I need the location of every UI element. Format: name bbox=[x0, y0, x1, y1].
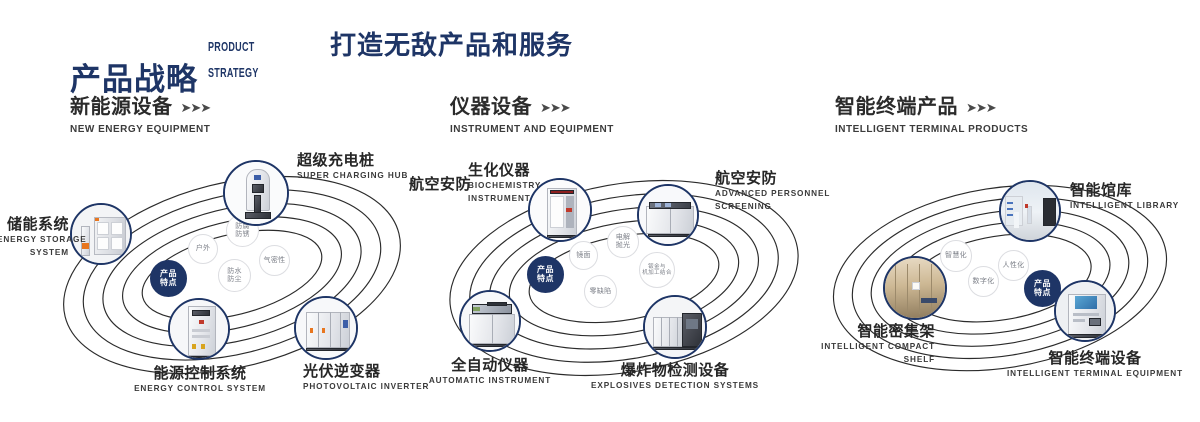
feature-line2-0-1: 防锈 bbox=[235, 231, 250, 239]
page-title-english-line1: PRODUCT bbox=[208, 41, 259, 54]
chevron-triple-right-icon-2: ➤➤➤ bbox=[966, 100, 996, 116]
page-title-english-line2: STRATEGY bbox=[208, 67, 259, 80]
node-en2-1-2: SCREENING bbox=[715, 202, 830, 212]
node-label-biochemistry: 生化仪器 BIOCHEMISTRY INSTRUMENT bbox=[468, 162, 541, 204]
feature-line1-1-0: 镜面 bbox=[576, 252, 591, 260]
automatic-instrument-photo bbox=[461, 292, 519, 350]
feature-line2-0-2: 防尘 bbox=[227, 276, 242, 284]
charging-hub-photo bbox=[225, 162, 287, 224]
product-strategy-infographic: 产品战略 PRODUCT STRATEGY 打造无敌产品和服务 新能源设备➤➤➤… bbox=[0, 0, 1200, 422]
feature-bubble-electropolish: 电解 抛光 bbox=[607, 226, 639, 258]
feature-bubble-waterproof: 防水 防尘 bbox=[218, 259, 251, 292]
section-header-instrument: 仪器设备➤➤➤ INSTRUMENT AND EQUIPMENT bbox=[450, 96, 614, 135]
node-pv-inverter[interactable] bbox=[294, 296, 358, 360]
feature-line1-2-2: 人性化 bbox=[1003, 262, 1025, 270]
node-automatic-instrument[interactable] bbox=[459, 290, 521, 352]
node-cn-1-2: 航空安防 bbox=[715, 170, 830, 187]
center-bubble-line2-0: 特点 bbox=[160, 279, 177, 288]
feature-bubble-center-1: 产品 特点 bbox=[527, 256, 564, 293]
page-title: 产品战略 bbox=[70, 64, 198, 95]
node-en1-0-0: ENERGY STORAGE bbox=[0, 235, 69, 245]
feature-line2-1-1: 抛光 bbox=[616, 242, 631, 250]
compact-shelf-photo bbox=[885, 258, 945, 318]
energy-storage-photo bbox=[72, 205, 130, 263]
node-cn-1-4: 全自动仪器 bbox=[425, 357, 555, 374]
page-title-english: PRODUCT STRATEGY bbox=[208, 28, 259, 95]
section-header-new-energy: 新能源设备➤➤➤ NEW ENERGY EQUIPMENT bbox=[70, 96, 210, 135]
node-label-aviation-security-left: 航空安防 bbox=[409, 176, 471, 193]
feature-bubble-zerodefect: 零缺陷 bbox=[584, 275, 617, 308]
feature-line1-1-3: 零缺陷 bbox=[590, 288, 612, 296]
node-cn-2-2: 智能终端设备 bbox=[1005, 350, 1185, 367]
node-label-energy-storage: 储能系统 ENERGY STORAGE SYSTEM bbox=[0, 216, 69, 258]
feature-line1-2-1: 数字化 bbox=[973, 278, 995, 286]
section-title-en-2: INTELLIGENT TERMINAL PRODUCTS bbox=[835, 124, 1028, 135]
feature-line1-0-0: 户外 bbox=[196, 245, 211, 253]
node-charging-hub[interactable] bbox=[223, 160, 289, 226]
diagram-new-energy: 产品 特点 户外 防腐 防锈 防水 防尘 气密性 bbox=[45, 150, 420, 400]
node-en2-2-1: SHELF bbox=[815, 355, 935, 365]
diagram-instrument: 产品 特点 镜面 电解 抛光 钣金与 机加工结合 零缺陷 航空安防 bbox=[432, 150, 817, 400]
node-explosives-detection[interactable] bbox=[643, 295, 707, 359]
node-label-explosives-detection: 爆炸物检测设备 EXPLOSIVES DETECTION SYSTEMS bbox=[585, 362, 765, 392]
chevron-triple-right-icon-0: ➤➤➤ bbox=[181, 100, 211, 116]
chevron-triple-right-icon-1: ➤➤➤ bbox=[540, 100, 570, 116]
section-title-cn-1: 仪器设备 bbox=[450, 96, 532, 119]
section-title-en-1: INSTRUMENT AND EQUIPMENT bbox=[450, 124, 614, 135]
feature-line1-0-3: 气密性 bbox=[264, 257, 286, 265]
node-terminal-equipment[interactable] bbox=[1054, 280, 1116, 342]
energy-control-photo bbox=[170, 300, 228, 358]
feature-line1-2-0: 智慧化 bbox=[945, 252, 967, 260]
library-photo bbox=[1001, 182, 1059, 240]
node-cn-2-0: 智能馆库 bbox=[1070, 182, 1179, 199]
node-cn-1-3: 爆炸物检测设备 bbox=[585, 362, 765, 379]
feature-bubble-airtight: 气密性 bbox=[259, 245, 290, 276]
section-title-cn-2: 智能终端产品 bbox=[835, 96, 958, 119]
node-en1-2-0: INTELLIGENT LIBRARY bbox=[1070, 201, 1179, 211]
node-personnel-screening[interactable] bbox=[637, 184, 699, 246]
node-label-compact-shelf: 智能密集架 INTELLIGENT COMPACT SHELF bbox=[815, 323, 935, 365]
node-label-charging-hub: 超级充电桩 SUPER CHARGING HUB bbox=[297, 152, 408, 182]
node-en1-1-3: EXPLOSIVES DETECTION SYSTEMS bbox=[585, 381, 765, 391]
node-cn-1-0: 航空安防 bbox=[409, 176, 471, 193]
node-en1-1-4: AUTOMATIC INSTRUMENT bbox=[425, 376, 555, 386]
center-bubble-line2-1: 特点 bbox=[537, 275, 554, 284]
node-label-energy-control: 能源控制系统 ENERGY CONTROL SYSTEM bbox=[75, 365, 325, 395]
screening-photo bbox=[639, 186, 697, 244]
node-cn-0-1: 超级充电桩 bbox=[297, 152, 408, 169]
feature-bubble-mirror: 镜面 bbox=[569, 241, 598, 270]
feature-bubble-outdoor: 户外 bbox=[188, 234, 218, 264]
node-en2-0-0: SYSTEM bbox=[0, 248, 69, 258]
section-header-intelligent: 智能终端产品➤➤➤ INTELLIGENT TERMINAL PRODUCTS bbox=[835, 96, 1028, 135]
header-title-block: 产品战略 PRODUCT STRATEGY bbox=[70, 28, 278, 95]
section-title-en-0: NEW ENERGY EQUIPMENT bbox=[70, 124, 210, 135]
feature-line1-0-2: 防水 bbox=[227, 268, 242, 276]
node-intelligent-library[interactable] bbox=[999, 180, 1061, 242]
node-label-intelligent-library: 智能馆库 INTELLIGENT LIBRARY bbox=[1070, 182, 1179, 212]
node-cn-1-1: 生化仪器 bbox=[468, 162, 541, 179]
section-title-cn-0: 新能源设备 bbox=[70, 96, 173, 119]
node-en1-2-2: INTELLIGENT TERMINAL EQUIPMENT bbox=[1005, 369, 1185, 379]
feature-line2-1-2: 机加工结合 bbox=[642, 270, 671, 276]
feature-bubble-digital: 数字化 bbox=[968, 266, 999, 297]
node-label-automatic-instrument: 全自动仪器 AUTOMATIC INSTRUMENT bbox=[425, 357, 555, 387]
node-en1-1-2: ADVANCED PERSONNEL bbox=[715, 189, 830, 199]
feature-line1-1-1: 电解 bbox=[616, 234, 631, 242]
page-slogan: 打造无敌产品和服务 bbox=[330, 31, 573, 60]
node-cn-0-3: 能源控制系统 bbox=[75, 365, 325, 382]
feature-bubble-center-0: 产品 特点 bbox=[150, 260, 187, 297]
node-en1-2-1: INTELLIGENT COMPACT bbox=[815, 342, 935, 352]
feature-bubble-humanized: 人性化 bbox=[998, 250, 1029, 281]
node-label-terminal-equipment: 智能终端设备 INTELLIGENT TERMINAL EQUIPMENT bbox=[1005, 350, 1185, 380]
node-en1-0-1: SUPER CHARGING HUB bbox=[297, 171, 408, 181]
node-energy-storage[interactable] bbox=[70, 203, 132, 265]
diagram-intelligent: 智慧化 数字化 人性化 产品 特点 bbox=[820, 158, 1190, 403]
node-en1-1-1: BIOCHEMISTRY bbox=[468, 181, 541, 191]
node-energy-control[interactable] bbox=[168, 298, 230, 360]
center-bubble-line2-2: 特点 bbox=[1034, 289, 1051, 298]
feature-bubble-sheetmetal: 钣金与 机加工结合 bbox=[639, 252, 675, 288]
node-label-personnel-screening: 航空安防 ADVANCED PERSONNEL SCREENING bbox=[715, 170, 830, 212]
explosives-photo bbox=[645, 297, 705, 357]
node-cn-0-0: 储能系统 bbox=[0, 216, 69, 233]
node-cn-2-1: 智能密集架 bbox=[815, 323, 935, 340]
terminal-photo bbox=[1056, 282, 1114, 340]
node-en2-1-1: INSTRUMENT bbox=[468, 194, 541, 204]
node-compact-shelf[interactable] bbox=[883, 256, 947, 320]
pv-inverter-photo bbox=[296, 298, 356, 358]
node-en1-0-3: ENERGY CONTROL SYSTEM bbox=[75, 384, 325, 394]
